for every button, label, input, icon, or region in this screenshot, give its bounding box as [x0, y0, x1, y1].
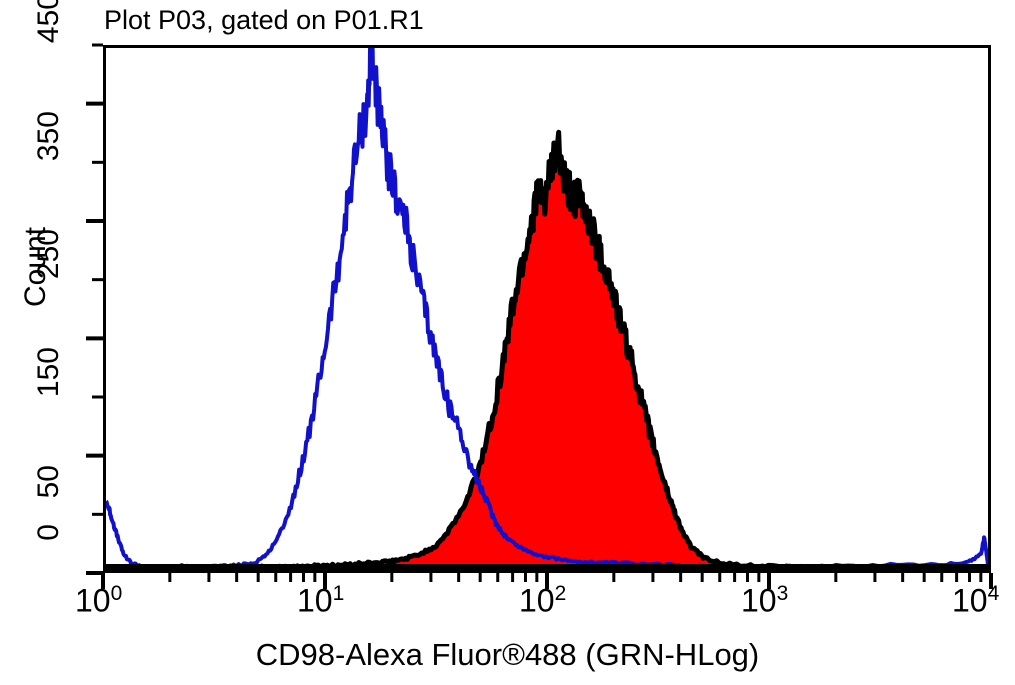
histogram-svg [106, 48, 988, 570]
x-tick-exp: 1 [333, 582, 345, 605]
y-tick-label: 50 [32, 465, 66, 563]
y-tick-label: 450 [32, 0, 66, 91]
x-tick-base: 10 [741, 583, 777, 619]
x-tick-exp: 2 [555, 582, 567, 605]
y-tick-label: 250 [32, 229, 66, 327]
y-tick-label: 350 [32, 111, 66, 209]
sample-histogram-area [106, 132, 988, 570]
baseline [106, 564, 988, 570]
x-tick-exp: 3 [777, 582, 789, 605]
series-sample-filled [106, 132, 988, 570]
x-axis-title: CD98-Alexa Fluor®488 (GRN-HLog) [0, 637, 1015, 673]
flow-cytometry-histogram: Plot P03, gated on P01.R1 Proteintech 15… [0, 0, 1015, 685]
x-tick-exp: 4 [988, 582, 1000, 605]
plot-area [103, 45, 991, 573]
x-tick-base: 10 [952, 583, 988, 619]
x-tick-base: 10 [297, 583, 333, 619]
x-tick-base: 10 [519, 583, 555, 619]
y-tick-label: 150 [32, 347, 66, 445]
x-tick-base: 10 [75, 583, 111, 619]
x-tick-exp: 0 [111, 582, 123, 605]
plot-title: Plot P03, gated on P01.R1 [104, 3, 424, 37]
